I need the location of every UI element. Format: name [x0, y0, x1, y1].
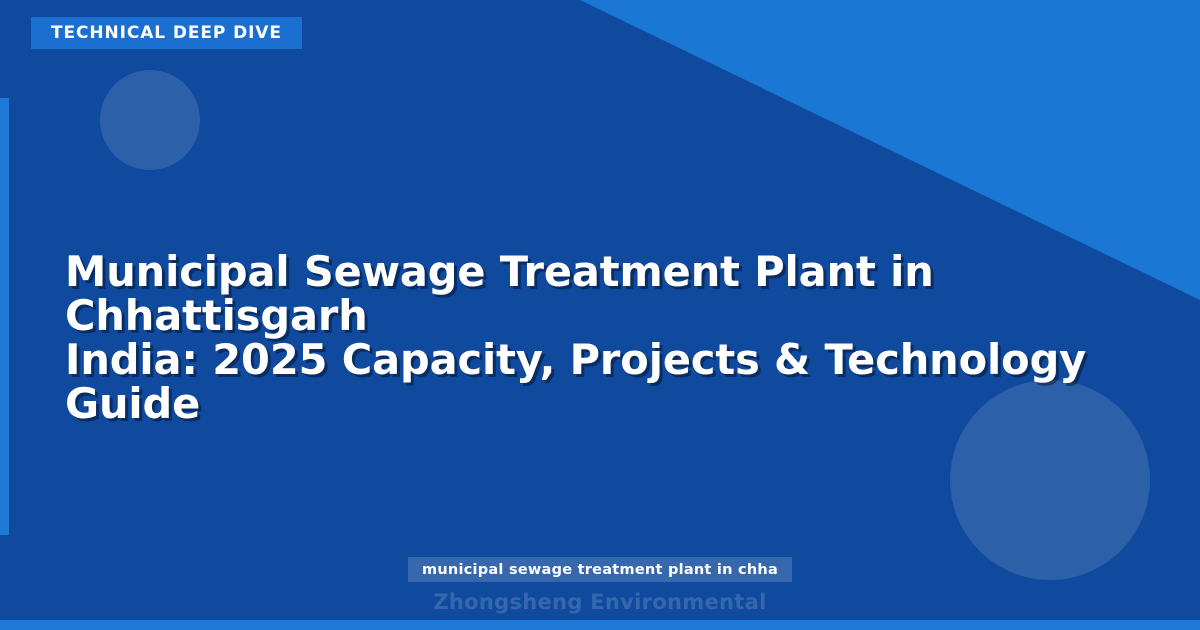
decorative-circle-top-left — [100, 70, 200, 170]
bottom-accent-strip — [0, 620, 1200, 630]
footer-brand-label: Zhongsheng Environmental — [433, 590, 766, 614]
keyword-badge-label: municipal sewage treatment plant in chha — [422, 562, 778, 578]
page-title: Municipal Sewage Treatment Plant in Chha… — [65, 250, 1145, 426]
left-accent-bar — [0, 98, 9, 535]
keyword-badge: municipal sewage treatment plant in chha — [408, 557, 792, 582]
footer-brand: Zhongsheng Environmental — [0, 590, 1200, 614]
eyebrow-badge-label: TECHNICAL DEEP DIVE — [51, 23, 282, 43]
social-card-canvas: TECHNICAL DEEP DIVE Municipal Sewage Tre… — [0, 0, 1200, 630]
eyebrow-badge: TECHNICAL DEEP DIVE — [31, 17, 302, 49]
title-block: Municipal Sewage Treatment Plant in Chha… — [65, 250, 1145, 426]
